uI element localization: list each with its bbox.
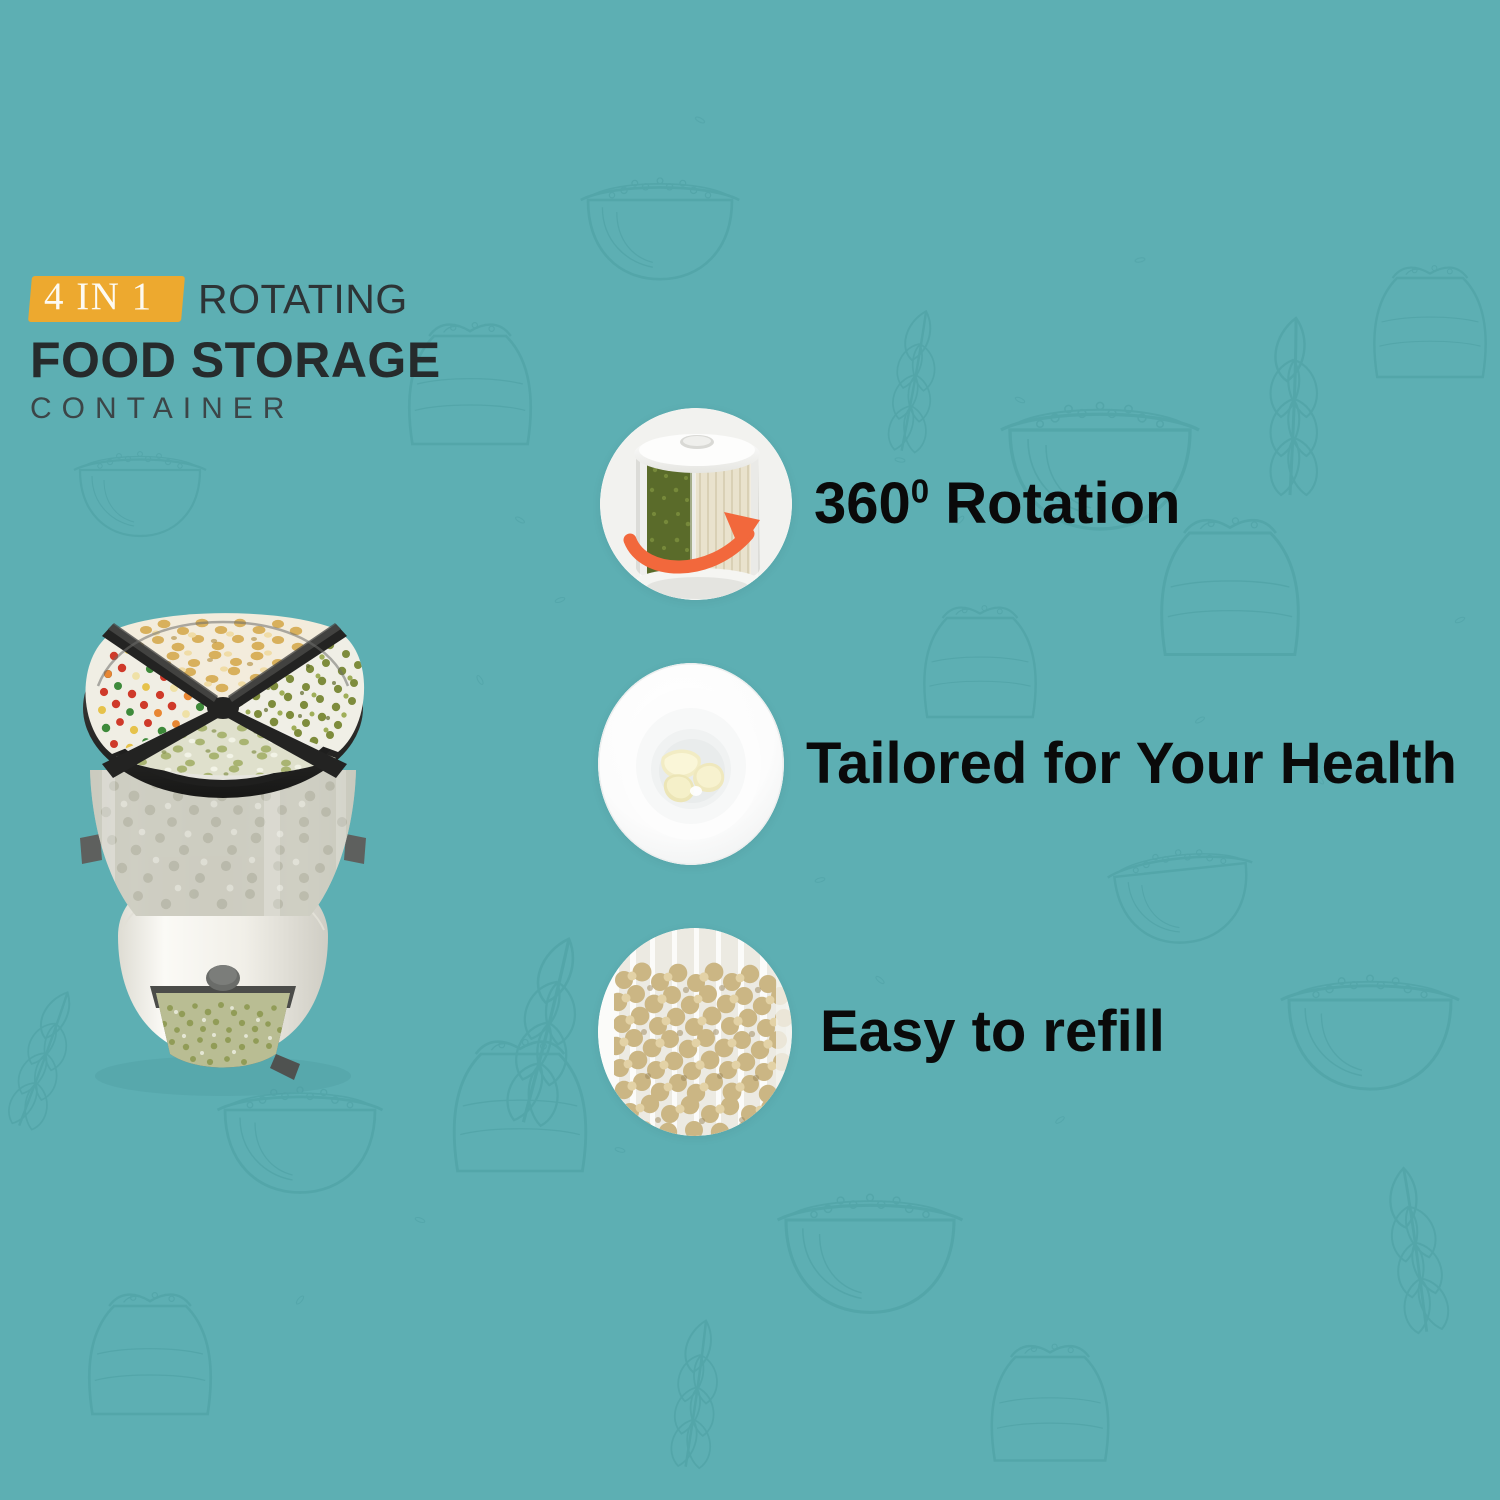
feature-row-rotation: 3600 Rotation xyxy=(600,408,1180,600)
product-ad-canvas: 4 IN 1 ROTATING FOOD STORAGE CONTAINER xyxy=(0,0,1500,1500)
feature-label-health: Tailored for Your Health xyxy=(806,733,1457,795)
feature-label-rotation-number: 360 xyxy=(814,471,911,536)
chickpeas-container-photo xyxy=(598,928,792,1136)
degree-symbol: 0 xyxy=(911,473,929,510)
product-hero-image xyxy=(18,538,428,1118)
headline-main: FOOD STORAGE xyxy=(30,332,500,388)
feature-label-rotation-rest: Rotation xyxy=(929,471,1180,536)
headline-rotating: ROTATING xyxy=(198,275,408,323)
badge-4in1-label: 4 IN 1 xyxy=(44,274,194,320)
headline-row-top: 4 IN 1 ROTATING xyxy=(30,276,500,326)
feature-row-health: Tailored for Your Health xyxy=(598,663,1457,865)
container-rotation-photo xyxy=(600,408,792,600)
feature-label-refill: Easy to refill xyxy=(820,1001,1165,1063)
feature-row-refill: Easy to refill xyxy=(598,928,1165,1136)
headline-block: 4 IN 1 ROTATING FOOD STORAGE CONTAINER xyxy=(30,276,500,426)
garlic-plate-photo xyxy=(598,663,784,865)
feature-label-rotation: 3600 Rotation xyxy=(814,473,1180,535)
headline-sub: CONTAINER xyxy=(30,392,500,426)
